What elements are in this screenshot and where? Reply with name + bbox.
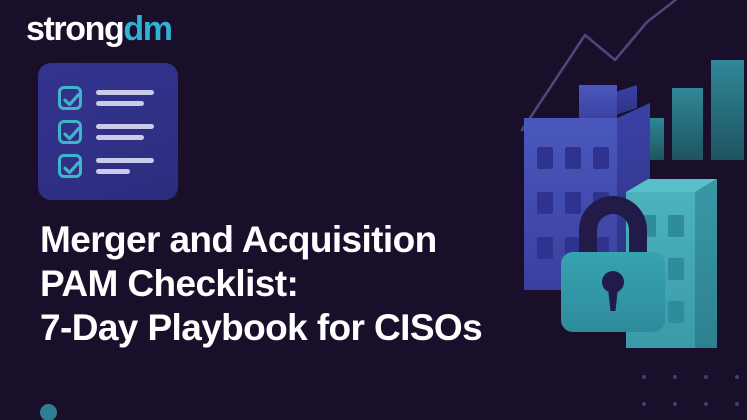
grid-dot [735,402,739,406]
merger-buildings-lock-illustration [507,0,747,420]
strongdm-logo: strongdm [26,10,172,48]
page-title: Merger and Acquisition PAM Checklist: 7-… [40,218,482,350]
checkmark-icon [63,92,81,108]
promo-banner: strongdm [0,0,747,420]
checklist-text-lines [96,158,154,174]
checklist-row [58,154,154,178]
dot-grid-decoration [642,375,747,420]
logo-text-strong: strong [26,10,123,48]
teal-building-side [695,179,717,348]
headline-line-2: PAM Checklist: [40,262,482,306]
grid-dot [642,375,646,379]
checklist-text-lines [96,124,154,140]
grid-dot [704,402,708,406]
headline-line-3: 7-Day Playbook for CISOs [40,306,482,350]
blue-building-tower [579,85,617,123]
checkmark-icon [63,160,81,176]
checkbox-checked-icon [58,120,82,144]
checklist-row [58,86,154,110]
logo-text-dm: dm [123,10,171,48]
headline-line-1: Merger and Acquisition [40,218,482,262]
checkbox-checked-icon [58,154,82,178]
checklist-row [58,120,154,144]
checklist-line [96,158,154,163]
checkmark-icon [63,126,81,142]
grid-dot [735,375,739,379]
illustration-svg [507,0,747,420]
grid-dot [704,375,708,379]
checklist-line [96,101,144,106]
chart-bar-3 [711,60,744,160]
checklist-line [96,90,154,95]
checklist-line [96,169,130,174]
checklist-line [96,124,154,129]
checklist-text-lines [96,90,154,106]
grid-dot [642,402,646,406]
corner-circle-decoration [40,404,57,420]
grid-dot [673,375,677,379]
checklist-line [96,135,144,140]
checkbox-checked-icon [58,86,82,110]
grid-dot [673,402,677,406]
chart-bar-2 [672,88,703,160]
checklist-card-icon [38,63,178,200]
